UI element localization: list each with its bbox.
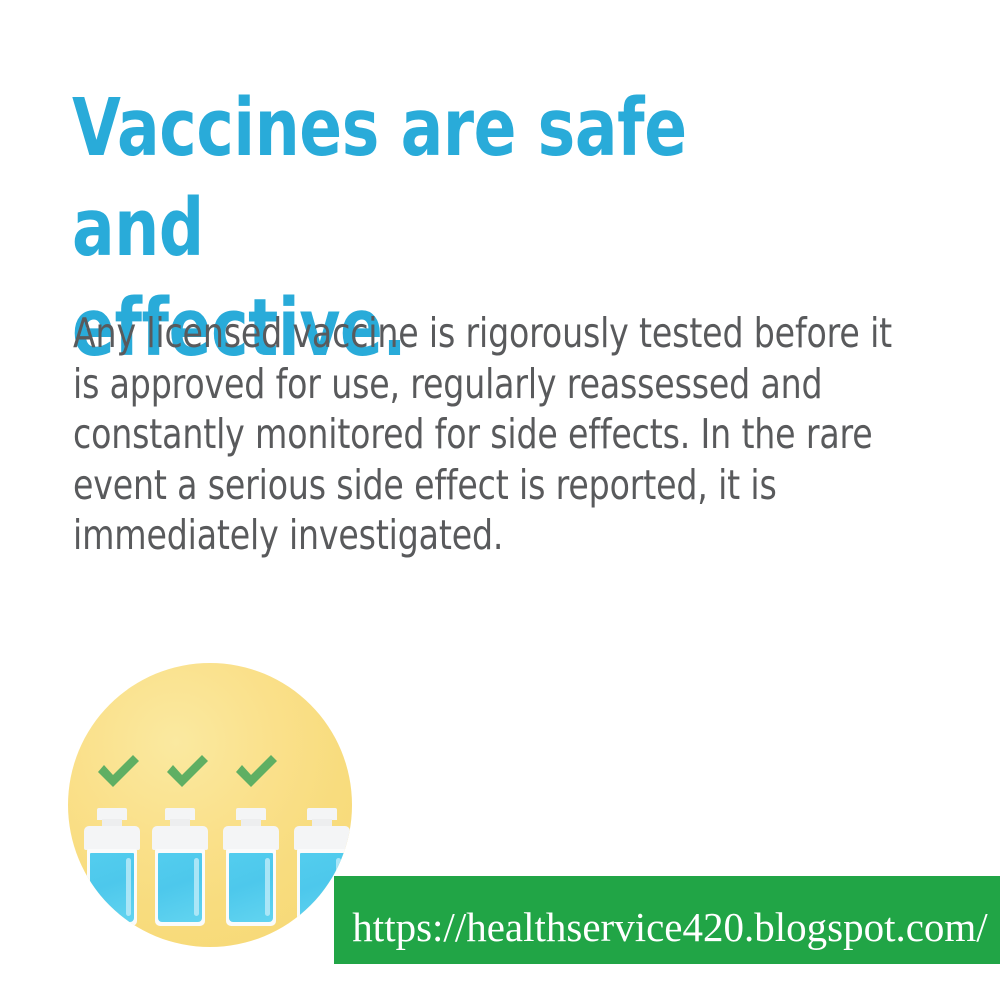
- body-paragraph: Any licensed vaccine is rigorously teste…: [73, 308, 915, 561]
- checkmark-icon: [233, 753, 279, 789]
- vaccine-vials-illustration: [68, 663, 352, 947]
- checkmark-icon: [95, 753, 141, 789]
- vial-liquid-highlight: [126, 858, 131, 916]
- checkmark-icon: [164, 753, 210, 789]
- vial-shoulder: [152, 826, 208, 850]
- vaccine-vial-icon: [223, 808, 279, 926]
- poster-canvas: Vaccines are safe and effective. Any lic…: [0, 0, 1000, 1001]
- vial-liquid-highlight: [194, 858, 199, 916]
- vial-shoulder: [84, 826, 140, 850]
- illustration-clip: [68, 663, 352, 947]
- vial-shoulder: [223, 826, 279, 850]
- url-banner[interactable]: https://healthservice420.blogspot.com/: [334, 876, 1000, 964]
- url-text[interactable]: https://healthservice420.blogspot.com/: [334, 902, 1000, 952]
- vaccine-vial-icon: [84, 808, 140, 926]
- vaccine-vial-icon: [152, 808, 208, 926]
- vial-shoulder: [294, 826, 350, 850]
- vial-liquid-highlight: [265, 858, 270, 916]
